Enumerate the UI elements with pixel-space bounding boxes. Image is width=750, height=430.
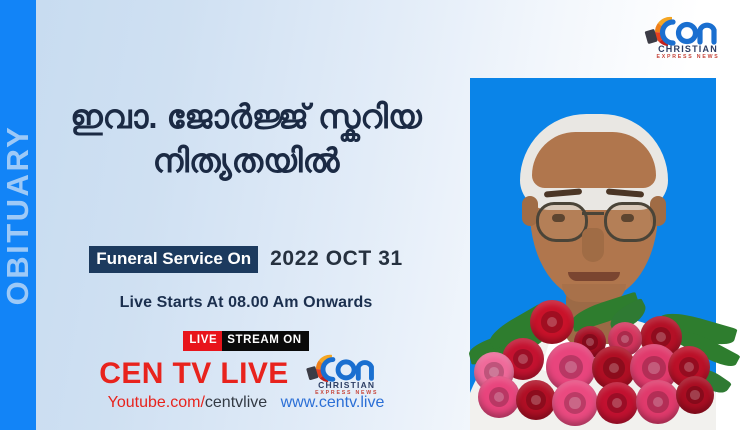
portrait-eyeglass-lens-left bbox=[536, 202, 588, 242]
obituary-vertical-label: OBITUARY bbox=[0, 125, 36, 306]
live-stream-badge-live: LIVE bbox=[183, 331, 222, 351]
rose bbox=[516, 380, 556, 420]
rose-bouquet bbox=[462, 288, 750, 428]
youtube-link-prefix[interactable]: Youtube.com/ bbox=[108, 394, 205, 411]
cen-logo-tagline-2: EXPRESS NEWS bbox=[656, 55, 719, 60]
funeral-service-date: 2022 OCT 31 bbox=[270, 247, 403, 271]
portrait-eyeglass-bridge bbox=[582, 212, 604, 215]
obituary-poster: OBITUARY CHRISTIAN EXPRESS NEWS ഇവാ. ജോർ… bbox=[0, 0, 750, 430]
rose bbox=[676, 376, 714, 414]
portrait-forehead bbox=[532, 132, 656, 188]
social-links-row: Youtube.com/centvlive www.centv.live bbox=[36, 395, 456, 411]
rose bbox=[596, 382, 638, 424]
cen-logo-inline: CHRISTIAN EXPRESS NEWS bbox=[301, 352, 393, 396]
poster-content: ഇവാ. ജോർജ്ജ് സ്കറിയ നിത്യതയിൽ Funeral Se… bbox=[36, 0, 466, 430]
channel-row: CEN TV LIVE CHRISTIAN EXPRESS NEW bbox=[36, 352, 456, 396]
portrait-mouth bbox=[568, 272, 620, 281]
rose bbox=[478, 376, 520, 418]
headline-line-2: നിത്യതയിൽ bbox=[36, 139, 456, 183]
live-stream-badge-on: STREAM ON bbox=[222, 331, 308, 351]
channel-title: CEN TV LIVE bbox=[99, 359, 288, 389]
headline-line-1: ഇവാ. ജോർജ്ജ് സ്കറിയ bbox=[70, 98, 421, 135]
youtube-link-handle[interactable]: centvlive bbox=[205, 394, 267, 411]
deceased-name-headline: ഇവാ. ജോർജ്ജ് സ്കറിയ നിത്യതയിൽ bbox=[36, 95, 456, 182]
rose bbox=[552, 380, 598, 426]
live-stream-badge-row: LIVE STREAM ON bbox=[36, 331, 456, 351]
funeral-service-row: Funeral Service On 2022 OCT 31 bbox=[36, 246, 456, 273]
funeral-service-badge: Funeral Service On bbox=[89, 246, 258, 273]
cen-logo-inline-tagline-1: CHRISTIAN bbox=[318, 381, 375, 390]
obituary-side-bar: OBITUARY bbox=[0, 0, 36, 430]
portrait-eyeglass-lens-right bbox=[604, 202, 656, 242]
cen-logo-mark-icon bbox=[640, 14, 736, 48]
cen-logo-inline-tagline-2: EXPRESS NEWS bbox=[315, 391, 378, 396]
portrait-nose bbox=[582, 228, 604, 262]
website-link[interactable]: www.centv.live bbox=[281, 394, 385, 411]
rose bbox=[530, 300, 574, 344]
live-stream-badge: LIVE STREAM ON bbox=[183, 331, 308, 351]
cen-logo-top: CHRISTIAN EXPRESS NEWS bbox=[640, 14, 736, 60]
live-start-time-text: Live Starts At 08.00 Am Onwards bbox=[36, 294, 456, 312]
rose bbox=[636, 380, 680, 424]
cen-logo-tagline-1: CHRISTIAN bbox=[658, 45, 718, 54]
